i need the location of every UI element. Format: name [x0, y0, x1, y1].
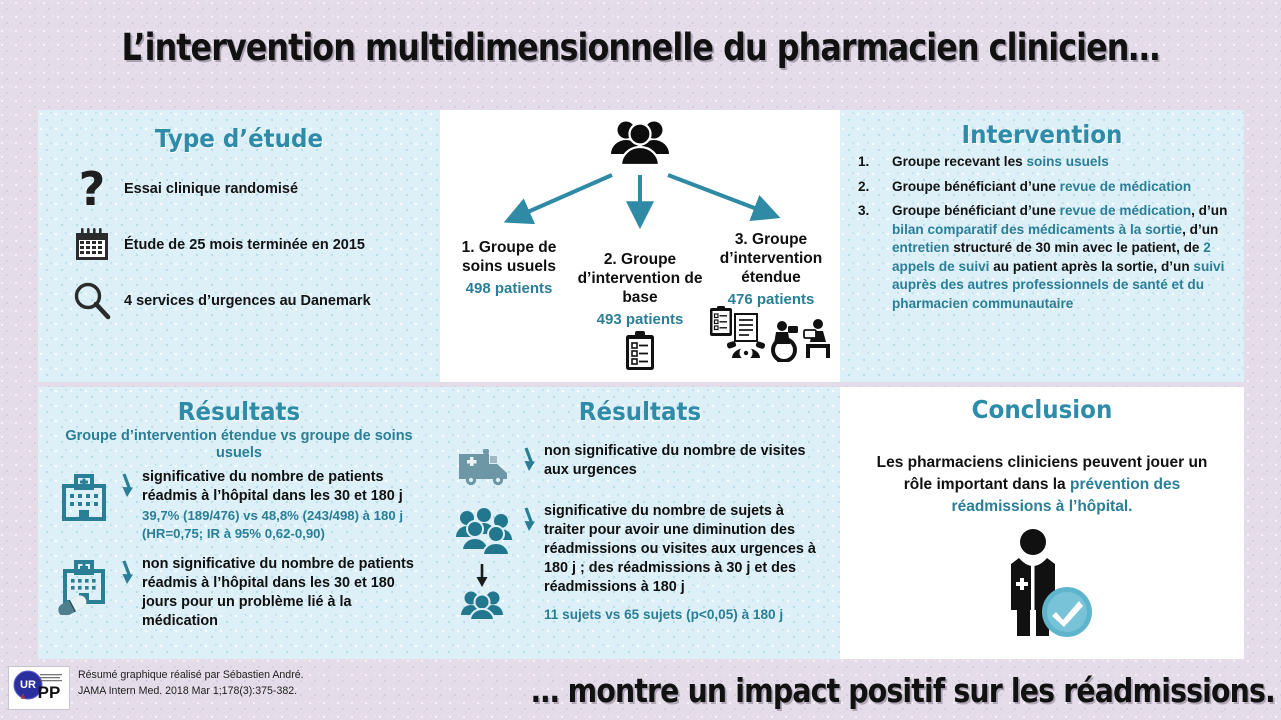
intervention-item-3: 3.Groupe bénéficiant d’une revue de médi…	[846, 202, 1232, 313]
intervention-item-3-run-2: , d’un	[1191, 203, 1227, 218]
panel-heading-resultats-centre: Résultats	[456, 387, 824, 426]
slide-title: L’intervention multidimensionnelle du ph…	[122, 26, 1160, 69]
intervention-item-number: 3.	[846, 202, 892, 313]
urpp-logo: UR & PP	[8, 666, 70, 710]
resultat-text: significative du nombre de sujets à trai…	[544, 502, 828, 597]
clipboard-checklist-icon	[577, 330, 703, 377]
svg-text:PP: PP	[38, 683, 61, 702]
panel-groupes: 1. Groupe de soins usuels 498 patients 2…	[440, 110, 840, 382]
intervention-item-2-run-0: Groupe bénéficiant d’une	[892, 179, 1060, 194]
conclusion-text: Les pharmaciens cliniciens peuvent jouer…	[864, 452, 1220, 518]
resultat-text: non significative du nombre de patients …	[142, 555, 428, 631]
list-item: ? Essai clinique randomisé	[38, 167, 440, 211]
down-arrow-icon	[518, 442, 544, 477]
resultats-subheading: Groupe d’intervention étendue vs groupe …	[52, 428, 426, 462]
group-count: 498 patients	[446, 280, 572, 297]
group-count: 493 patients	[577, 311, 703, 328]
tagline-bar: … montre un impact positif sur les réadm…	[415, 664, 1275, 716]
intervention-item-1-run-0: Groupe recevant les	[892, 154, 1026, 169]
tagline: … montre un impact positif sur les réadm…	[531, 671, 1275, 710]
down-arrow-icon	[116, 555, 142, 590]
calendar-icon	[60, 225, 124, 265]
intervention-item-3-run-3: bilan comparatif des médicaments à la so…	[892, 222, 1182, 237]
intervention-item-text: Groupe bénéficiant d’une revue de médica…	[892, 202, 1232, 313]
intervention-list: 1.Groupe recevant les soins usuels2.Grou…	[846, 153, 1232, 313]
down-arrow-icon	[518, 502, 544, 537]
intervention-item-1: 1.Groupe recevant les soins usuels	[846, 153, 1232, 172]
pharmacist-check-icon	[840, 528, 1244, 640]
list-item: significative du nombre de sujets à trai…	[440, 502, 840, 622]
intervention-item-2: 2.Groupe bénéficiant d’une revue de médi…	[846, 178, 1232, 197]
type-etude-label-1: Essai clinique randomisé	[124, 180, 298, 198]
intervention-item-3-run-0: Groupe bénéficiant d’une	[892, 203, 1060, 218]
intervention-item-number: 1.	[846, 153, 892, 172]
ambulance-icon	[454, 442, 518, 486]
intervention-item-text: Groupe recevant les soins usuels	[892, 153, 1232, 172]
resultat-subtext: 39,7% (189/476) vs 48,8% (243/498) à 180…	[142, 507, 428, 543]
resultat-text: significative du nombre de patients réad…	[142, 468, 428, 506]
panel-resultats-gauche: Résultats Groupe d’intervention étendue …	[38, 387, 440, 659]
credit-line-1: Résumé graphique réalisé par Sébastien A…	[78, 668, 408, 684]
question-mark-icon: ?	[60, 167, 124, 211]
group-title: 2. Groupe d’intervention de base	[577, 250, 703, 307]
intervention-item-3-run-6: structuré de 30 min avec le patient, de	[949, 240, 1203, 255]
magnifier-icon	[60, 279, 124, 323]
group-arrows	[440, 170, 840, 230]
intervention-item-text: Groupe bénéficiant d’une revue de médica…	[892, 178, 1232, 197]
intervention-item-3-run-8: au patient après la sortie, d’un	[989, 259, 1193, 274]
panel-intervention: Intervention 1.Groupe recevant les soins…	[840, 110, 1244, 382]
crowd-to-small-group-icon	[454, 502, 518, 622]
resultat-note: 11 sujets vs 65 sujets (p<0,05) à 180 j	[544, 607, 828, 622]
intervention-item-number: 2.	[846, 178, 892, 197]
credit-block: Résumé graphique réalisé par Sébastien A…	[78, 668, 408, 699]
slide-title-bar: L’intervention multidimensionnelle du ph…	[0, 16, 1281, 78]
resultat-text: non significative du nombre de visites a…	[544, 442, 828, 480]
footer: UR & PP Résumé graphique réalisé par Séb…	[0, 662, 1281, 720]
credit-line-2: JAMA Intern Med. 2018 Mar 1;178(3):375-3…	[78, 684, 408, 700]
group-column-2: 2. Groupe d’intervention de base 493 pat…	[577, 230, 703, 377]
panel-heading-conclusion: Conclusion	[856, 387, 1228, 424]
intervention-item-2-run-1: revue de médication	[1060, 179, 1191, 194]
hospital-icon	[52, 468, 116, 524]
list-item: non significative du nombre de visites a…	[440, 442, 840, 486]
group-column-3: 3. Groupe d’intervention étendue 476 pat…	[708, 230, 834, 377]
svg-text:&: &	[20, 694, 25, 701]
type-etude-label-3: 4 services d’urgences au Danemark	[124, 292, 371, 310]
panel-heading-intervention: Intervention	[856, 110, 1228, 149]
panel-heading-resultats-gauche: Résultats	[54, 387, 424, 426]
type-etude-label-2: Étude de 25 mois terminée en 2015	[124, 236, 365, 254]
intervention-item-3-run-1: revue de médication	[1060, 203, 1191, 218]
intervention-item-1-run-1: soins usuels	[1026, 154, 1108, 169]
clipboard-phone-interview-icon	[708, 306, 834, 367]
hospital-pill-icon	[52, 555, 116, 615]
panel-type-etude: Type d’étude ? Essai clinique randomisé	[38, 110, 440, 382]
down-arrow-icon	[116, 468, 142, 503]
group-column-1: 1. Groupe de soins usuels 498 patients	[446, 230, 572, 377]
panel-heading-type-etude: Type d’étude	[54, 110, 424, 153]
group-title: 1. Groupe de soins usuels	[446, 238, 572, 276]
list-item: 4 services d’urgences au Danemark	[38, 279, 440, 323]
panel-resultats-centre: Résultats non si	[440, 387, 840, 659]
intervention-item-3-run-4: , d’un	[1182, 222, 1218, 237]
group-columns: 1. Groupe de soins usuels 498 patients 2…	[440, 230, 840, 377]
intervention-item-3-run-5: entretien	[892, 240, 949, 255]
list-item: significative du nombre de patients réad…	[38, 468, 440, 543]
people-group-icon	[440, 110, 840, 170]
group-title: 3. Groupe d’intervention étendue	[708, 230, 834, 287]
svg-text:UR: UR	[20, 679, 36, 691]
panel-conclusion: Conclusion Les pharmaciens cliniciens pe…	[840, 387, 1244, 659]
list-item: non significative du nombre de patients …	[38, 555, 440, 631]
list-item: Étude de 25 mois terminée en 2015	[38, 225, 440, 265]
